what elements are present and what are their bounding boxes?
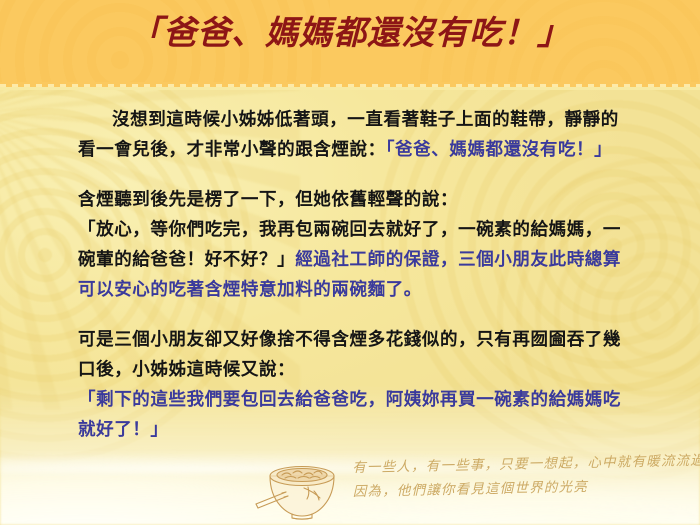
paragraph-1-run-2-quote: 「爸爸、媽媽都還沒有吃！」 — [386, 139, 613, 159]
paragraph-2: 含煙聽到後先是楞了一下，但她依舊輕聲的說： 「放心，等你們吃完，我再包兩碗回去就… — [78, 184, 634, 304]
paragraph-3-run-2-quote: 「剩下的這些我們要包回去給爸爸吃，阿姨妳再買一碗素的給媽媽吃就好了！」 — [78, 389, 621, 439]
paragraph-3: 可是三個小朋友卻又好像捨不得含煙多花錢似的，只有再囫圇吞了幾口後，小姊姊這時候又… — [78, 324, 634, 444]
paragraph-1: 沒想到這時候小姊姊低著頭，一直看著鞋子上面的鞋帶，靜靜的看一會兒後，才非常小聲的… — [78, 104, 634, 164]
paragraph-2-run-1: 含煙聽到後先是楞了一下，但她依舊輕聲的說： — [78, 189, 458, 209]
story-body: 沒想到這時候小姊姊低著頭，一直看著鞋子上面的鞋帶，靜靜的看一會兒後，才非常小聲的… — [78, 104, 634, 444]
noodle-bowl-icon — [252, 456, 352, 522]
header-dotted-divider — [0, 82, 700, 90]
paragraph-3-run-1: 可是三個小朋友卻又好像捨不得含煙多花錢似的，只有再囫圇吞了幾口後，小姊姊這時候又… — [78, 329, 621, 379]
slide-root: 「爸爸、媽媽都還沒有吃！」 沒想到這時候小姊姊低著頭，一直看著鞋子上面的鞋帶，靜… — [0, 0, 700, 525]
handwritten-note: 有一些人，有一些事，只要一想起，心中就有暖流流過 因為，他們讓你看見這個世界的光… — [352, 449, 693, 504]
page-title: 「爸爸、媽媽都還沒有吃！」 — [0, 12, 700, 57]
